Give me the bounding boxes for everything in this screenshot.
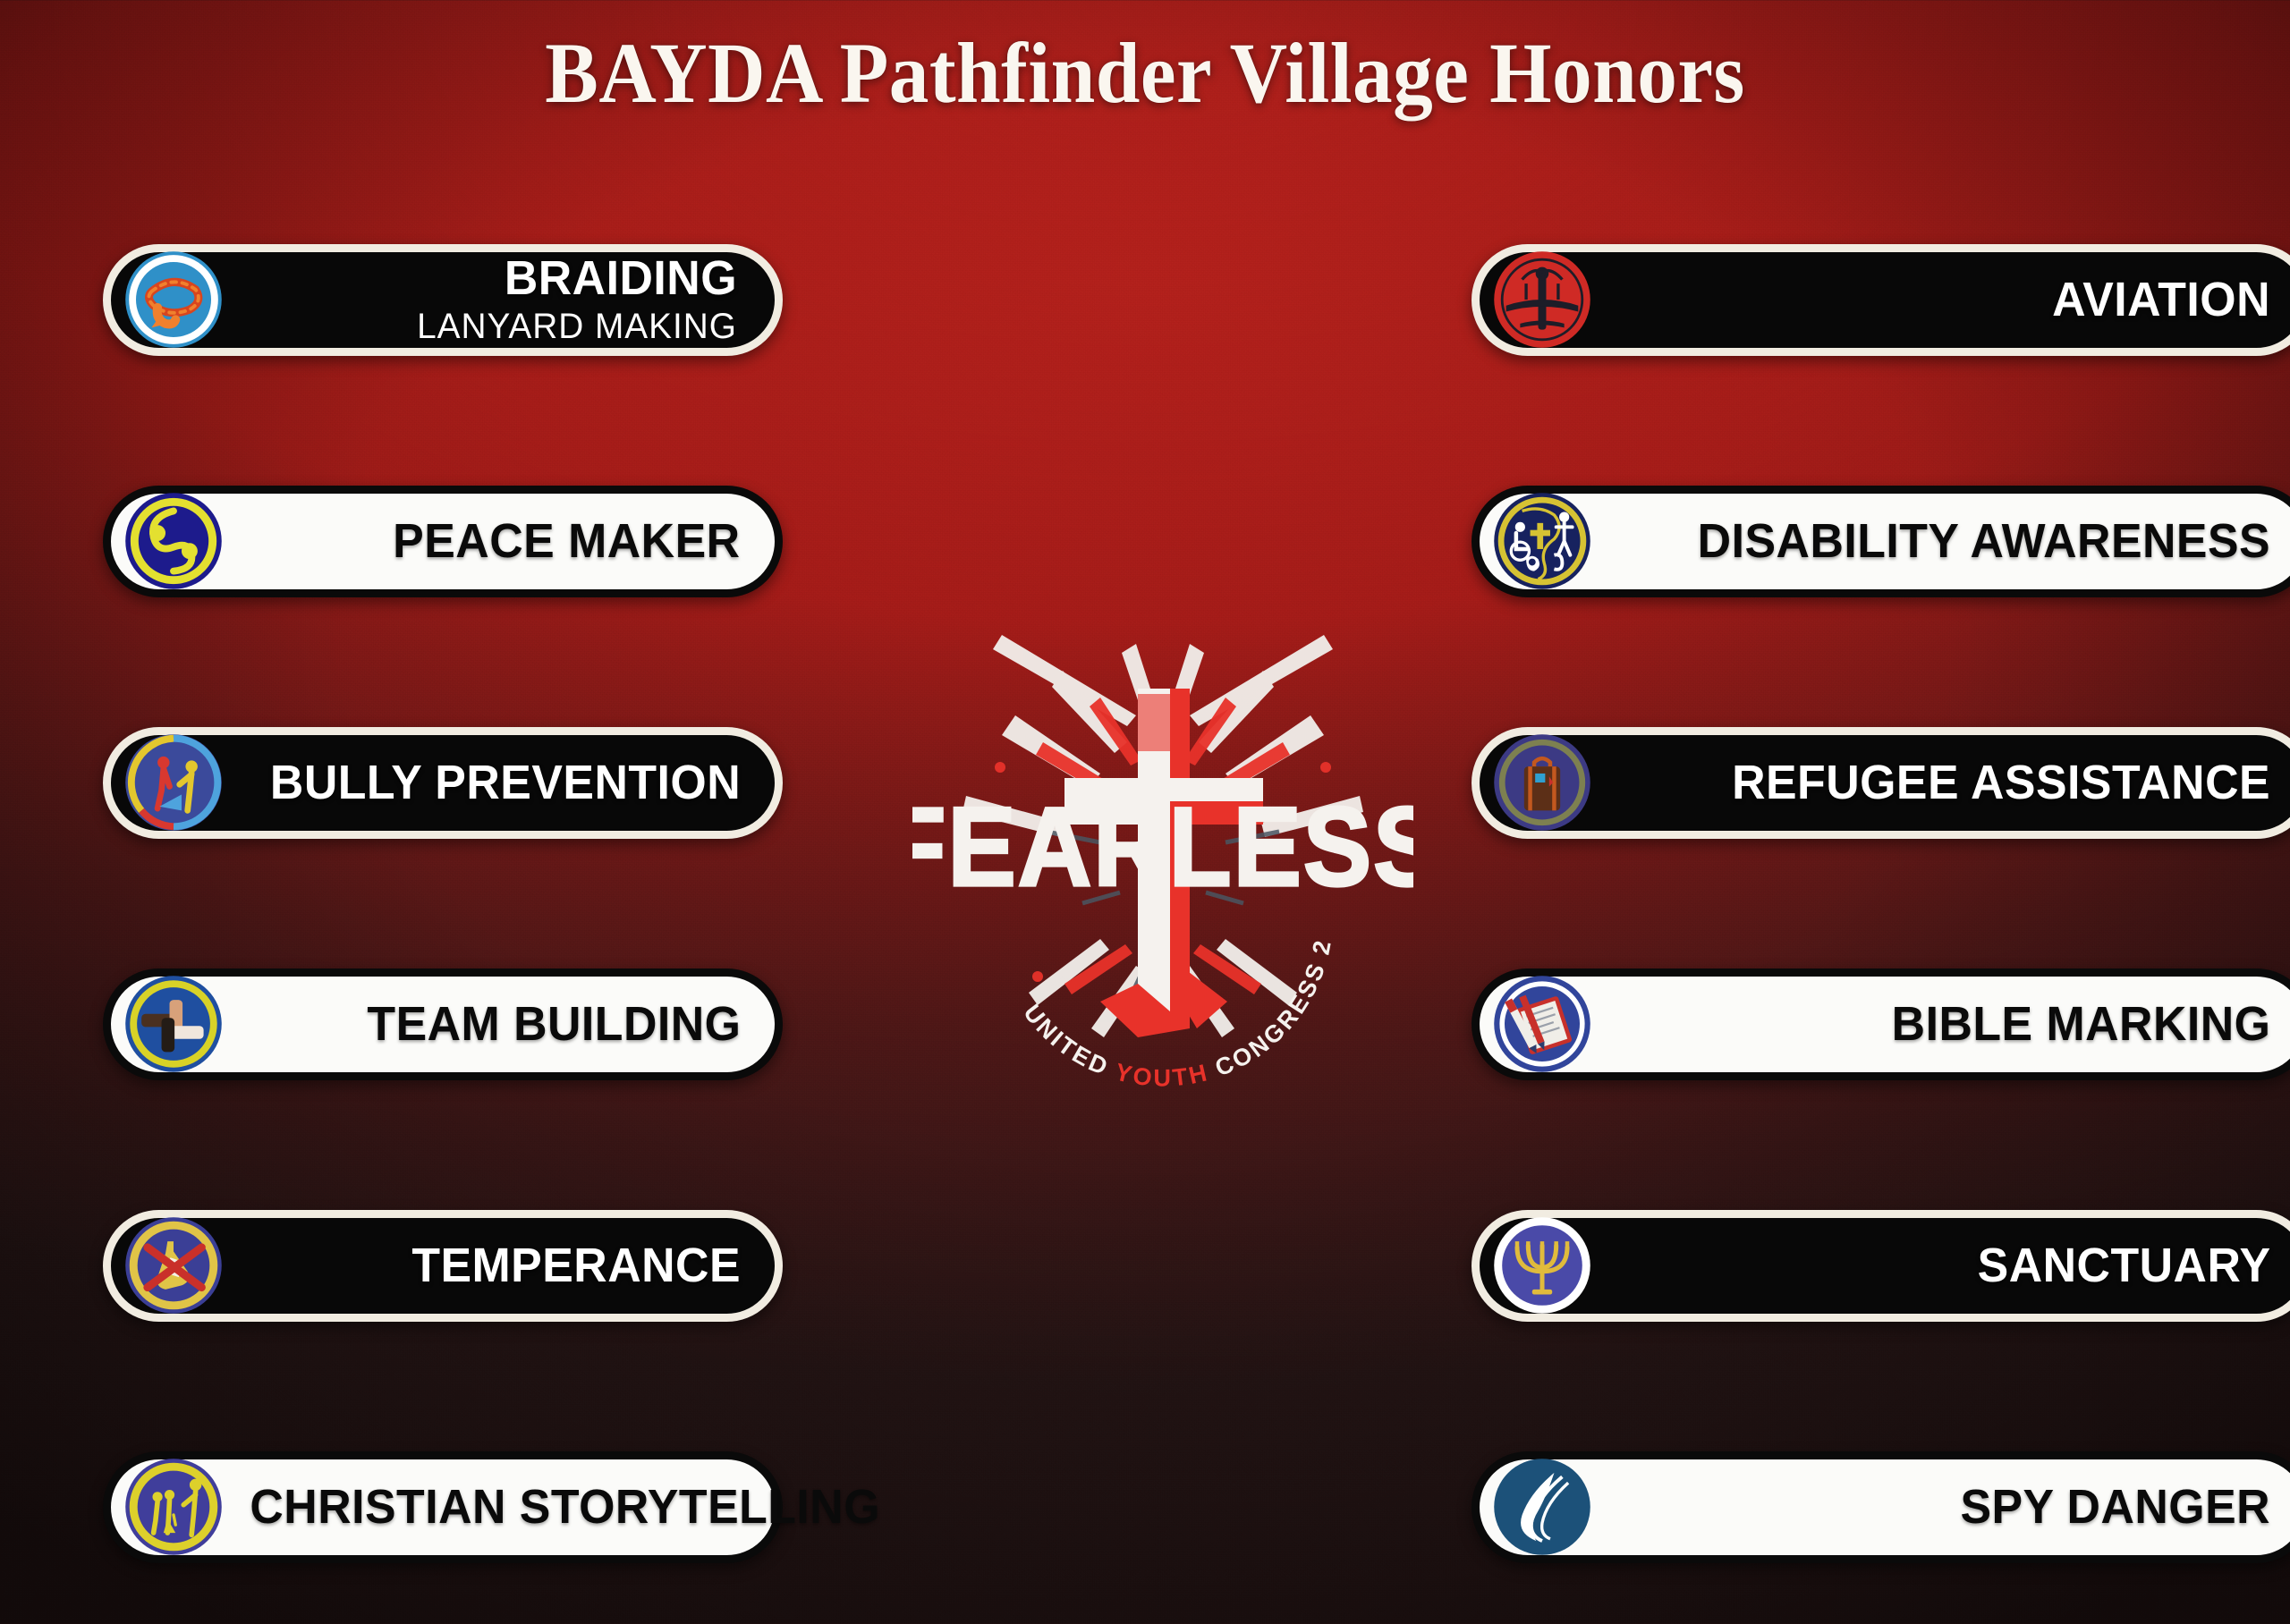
honor-label: SPY DANGER — [1960, 1483, 2270, 1531]
bible-marking-badge-icon — [1492, 974, 1592, 1074]
honor-label-group: BRAIDING LANYARD MAKING — [224, 254, 768, 345]
honor-label-group: SANCTUARY — [1592, 1241, 2290, 1290]
honor-label-group: BIBLE MARKING — [1592, 1000, 2290, 1048]
honor-slot: DISABILITY AWARENESS — [1436, 420, 2290, 662]
honor-slot: AVIATION — [1436, 179, 2290, 420]
honor-label-group: AVIATION — [1592, 275, 2290, 324]
bully-prevention-badge-icon — [123, 732, 224, 833]
honor-label: CHRISTIAN STORYTELLING — [250, 1483, 880, 1531]
page-title: BAYDA Pathfinder Village Honors — [81, 27, 2210, 120]
honor-pill-spy-danger[interactable]: SPY DANGER — [1472, 1451, 2290, 1563]
team-building-badge-icon — [123, 974, 224, 1074]
honor-pill-aviation[interactable]: AVIATION — [1472, 244, 2290, 356]
honor-label-group: BULLY PREVENTION — [224, 758, 768, 807]
honor-slot: BIBLE MARKING — [1436, 903, 2290, 1145]
honor-label-group: TEAM BUILDING — [224, 1000, 768, 1048]
logo-burst-accents — [1047, 832, 1279, 993]
honor-label: SANCTUARY — [1977, 1241, 2270, 1290]
honor-label: TEMPERANCE — [411, 1241, 741, 1290]
spy-danger-badge-icon — [1492, 1457, 1592, 1557]
honor-label-group: CHRISTIAN STORYTELLING — [224, 1483, 907, 1531]
honor-label-group: PEACE MAKER — [224, 517, 768, 565]
honor-pill-bully-prevention[interactable]: BULLY PREVENTION — [103, 727, 783, 839]
honor-label-group: TEMPERANCE — [224, 1241, 768, 1290]
honor-pill-disability-awareness[interactable]: DISABILITY AWARENESS — [1472, 486, 2290, 597]
logo-main-text: FEARLESS — [912, 784, 1413, 909]
honor-pill-temperance[interactable]: TEMPERANCE — [103, 1210, 783, 1322]
logo-burst-rays — [963, 635, 1363, 1037]
honor-pill-bible-marking[interactable]: BIBLE MARKING — [1472, 968, 2290, 1080]
christian-storytelling-badge-icon — [123, 1457, 224, 1557]
logo-arc-text-highlight: YOUTH — [1113, 1058, 1212, 1091]
honor-slot: REFUGEE ASSISTANCE — [1436, 662, 2290, 903]
sanctuary-badge-icon — [1492, 1215, 1592, 1315]
honor-label: BULLY PREVENTION — [270, 758, 741, 807]
honor-label: BIBLE MARKING — [1891, 1000, 2270, 1048]
honor-pill-sanctuary[interactable]: SANCTUARY — [1472, 1210, 2290, 1322]
honor-slot: SANCTUARY — [1436, 1145, 2290, 1386]
honor-label: PEACE MAKER — [394, 517, 741, 565]
temperance-badge-icon — [123, 1215, 224, 1315]
braiding-badge-icon — [123, 250, 224, 350]
honor-label: DISABILITY AWARENESS — [1698, 517, 2270, 565]
honor-slot: TEMPERANCE — [103, 1145, 980, 1386]
refugee-assistance-badge-icon — [1492, 732, 1592, 833]
honor-pill-christian-storytelling[interactable]: CHRISTIAN STORYTELLING — [103, 1451, 783, 1563]
honors-column-right: AVIATION — [1436, 179, 2290, 1624]
honor-slot: BRAIDING LANYARD MAKING — [103, 179, 980, 420]
honor-slot: BULLY PREVENTION — [103, 662, 980, 903]
logo-cross-icon — [1064, 689, 1263, 1037]
honor-label-group: SPY DANGER — [1592, 1483, 2290, 1531]
logo-burst-rays-red — [995, 698, 1331, 1011]
honor-label: REFUGEE ASSISTANCE — [1732, 758, 2270, 807]
honor-pill-peace-maker[interactable]: PEACE MAKER — [103, 486, 783, 597]
aviation-badge-icon — [1492, 250, 1592, 350]
honor-pill-braiding[interactable]: BRAIDING LANYARD MAKING — [103, 244, 783, 356]
fearless-event-logo: FEARLESS UNITED YOUTH CONGRESS 2025 — [912, 608, 1413, 1109]
honor-slot: CHRISTIAN STORYTELLING — [103, 1386, 980, 1624]
honor-sublabel: LANYARD MAKING — [417, 308, 737, 345]
honor-label-group: DISABILITY AWARENESS — [1592, 517, 2290, 565]
honor-slot: PEACE MAKER — [103, 420, 980, 662]
honor-slot: SPY DANGER — [1436, 1386, 2290, 1624]
honor-label-group: REFUGEE ASSISTANCE — [1592, 758, 2290, 807]
disability-awareness-badge-icon — [1492, 491, 1592, 591]
honor-slot: TEAM BUILDING — [103, 903, 980, 1145]
honor-label: AVIATION — [2052, 275, 2270, 324]
honor-pill-refugee-assistance[interactable]: REFUGEE ASSISTANCE — [1472, 727, 2290, 839]
honor-label: TEAM BUILDING — [367, 1000, 741, 1048]
logo-arc-text-left: UNITED — [1018, 999, 1114, 1081]
honors-column-left: BRAIDING LANYARD MAKING PEACE MAKER — [103, 179, 980, 1624]
honor-pill-team-building[interactable]: TEAM BUILDING — [103, 968, 783, 1080]
honor-label: BRAIDING — [505, 254, 737, 302]
peace-maker-badge-icon — [123, 491, 224, 591]
